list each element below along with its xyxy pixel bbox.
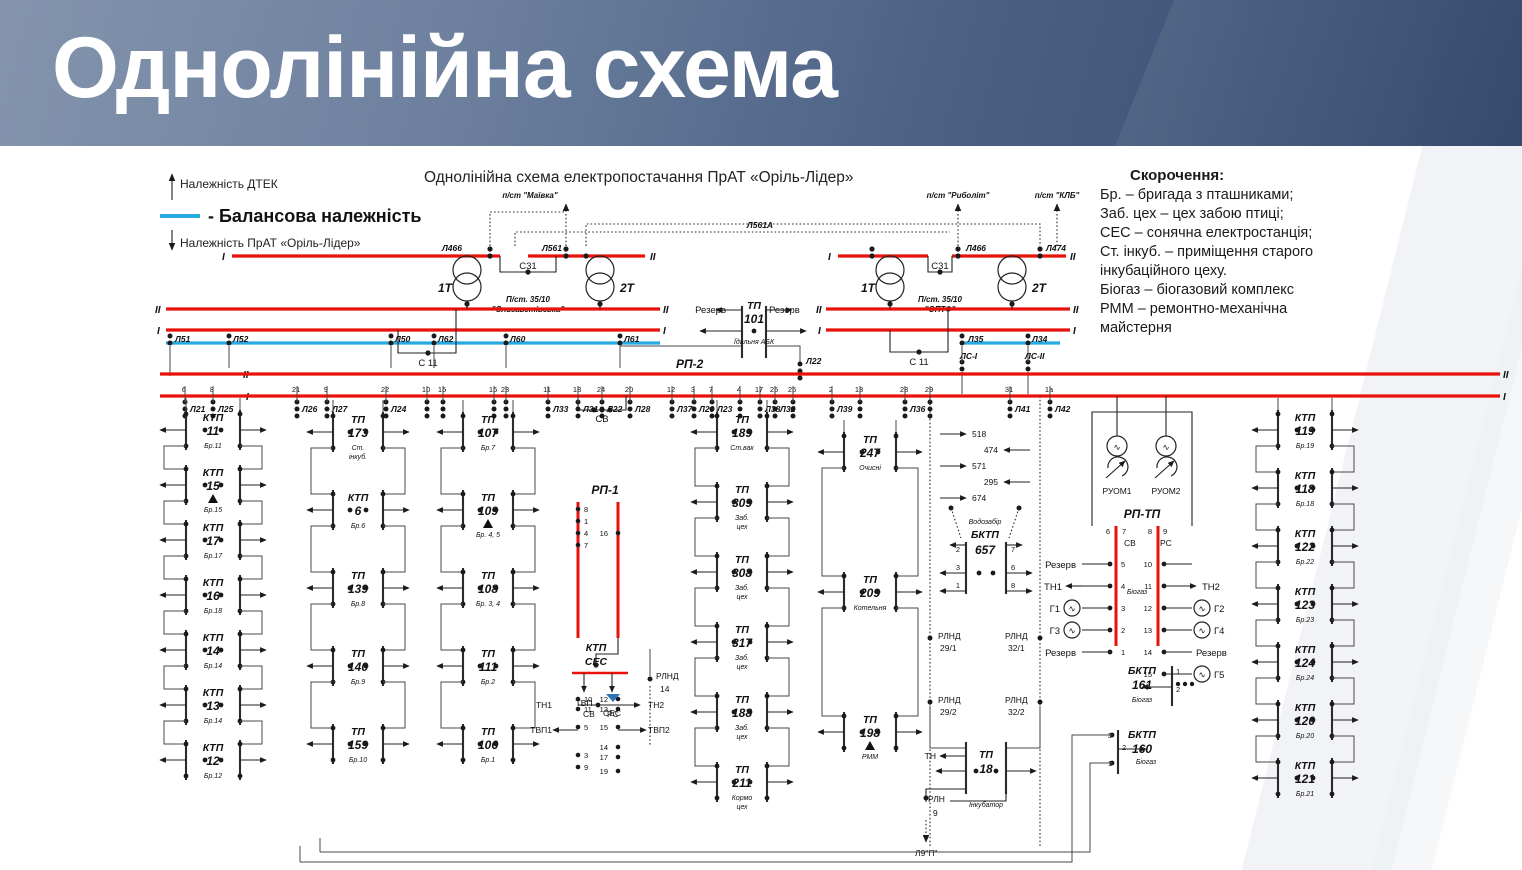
substation-unit[interactable]: КТП118Бр.18 [1252,468,1358,530]
rp2-feeder-cell[interactable]: 29 [925,385,933,419]
ktpces-out1: ТВП [576,698,593,708]
substation-unit[interactable]: КТП119Бр.19 [1252,410,1358,472]
ring-link-left [695,448,717,486]
rptp-right-cell[interactable]: 13 [1144,626,1152,635]
column-col-4: ТП189Ст.вакТП309Заб.цехТП308Заб.цехТП317… [691,400,793,811]
warning-triangle-icon [483,519,493,528]
unit-note: Заб. [735,514,749,522]
rp1-right-cell[interactable]: 15 [600,723,608,732]
node-dot [219,648,224,653]
rptp-right-rows: 1011ТН212∿Г213∿Г414Резерв15∿Г5 [1144,560,1227,682]
unit-note: Бр.1 [481,757,495,764]
column-col-2: ТП173Ст.інкуб.КТП6Бр.6ТП139Бр.8ТП140Бр.9… [307,400,409,764]
rp1-right-cell[interactable]: 14 [600,743,608,752]
sub2-t1-label: 1Т [861,281,877,295]
ring-link-left [695,518,717,556]
rp2-cell-number: 15 [438,385,446,394]
ring-link-right [513,526,535,572]
rp2-line-label: Л28 [634,404,651,414]
ring-link-right [1332,446,1354,472]
abbr-line-4: інкубаційного цеху. [1100,263,1227,279]
ring-link-left [164,501,186,524]
node-dot [511,492,516,497]
node-dot [1330,412,1335,417]
substation-unit[interactable]: ТП108Бр. 3, 4 [437,568,539,650]
substation-unit[interactable]: КТП16Бр.18 [160,575,266,634]
rp1-left-cell[interactable]: 1 [584,517,588,526]
ring-link-left [311,682,333,728]
substation-unit[interactable]: КТП13Бр.14 [160,685,266,744]
node-dot [1276,412,1281,417]
ring-link-left [822,608,844,716]
warning-triangle-icon [865,741,875,750]
node-dot [184,742,189,747]
node-dot [1330,792,1335,797]
column-col-6: КТП119Бр.19КТП118Бр.18КТП122Бр.22КТП123Б… [1252,398,1358,798]
unit-type: КТП [203,687,224,699]
bus-left-mark-I-r: I [663,326,666,337]
ring-link-right [767,518,789,556]
node-dot [381,414,386,419]
substation-unit[interactable]: ТП109Бр. 4, 5 [437,490,539,572]
unit-number: 15 [206,479,220,493]
tp18-number: 18 [979,762,993,776]
rp1-left-cell[interactable]: 9 [584,763,588,772]
unit-type: КТП [1295,412,1316,424]
node-dot [478,664,483,669]
warning-triangle-icon [208,494,218,503]
disconnector-dot [425,407,430,412]
ring-link-left [311,526,333,572]
sub1-feeder-l561: Л561 [541,243,562,253]
node-dot [238,687,243,692]
rp2-feeder-cell[interactable]: 13 [855,385,863,419]
node-dot [1276,470,1281,475]
bktp657-out-518: 518 [972,429,986,439]
ring-link-right [513,682,535,728]
bktp657-cell-7: 7 [1011,545,1015,554]
rp2-cell-number: 29 [925,385,933,394]
unit-note: Бр.14 [204,718,222,725]
rp-tp: ∿ ∿ РУОМ1 РУОМ2 РП-ТП 6 7 8 9 СВ РС Біог… [1044,396,1227,682]
rp1-right-cell[interactable]: 16 [600,529,608,538]
node-dot [1311,428,1316,433]
substation-unit[interactable]: КТП11Бр.11 [160,410,266,469]
rp1-left-cell[interactable]: 4 [584,529,588,538]
node-dot [616,725,621,730]
disconnector-dot [492,407,497,412]
rp2-feeder-cell[interactable]: 23 [501,385,509,419]
disconnector-dot [830,407,835,412]
unit-note: Бр.21 [1296,791,1314,798]
bktp657-rlnd-29-2-no: 29/2 [940,707,957,717]
substation-unit[interactable]: КТП121Бр.21 [1252,758,1358,798]
node-dot [715,796,720,801]
node-dot [331,726,336,731]
ruom2-glyph: ∿ [1162,442,1169,452]
rp1-left-cells: 81471011539 [576,505,593,772]
bktp657-cell-3: 3 [956,563,960,572]
node-dot [576,753,581,758]
rptp-left-label: Резерв [1045,648,1076,659]
bktp160-cell-2: 2 [1122,743,1126,752]
unit-type: ТП [735,764,749,776]
substation-unit[interactable]: КТП122Бр.22 [1252,526,1358,588]
rp2-cell-number: 20 [625,385,633,394]
ring-link-right [767,588,789,626]
node-dot [876,590,881,595]
node-dot [748,570,753,575]
ring-link-right [240,501,262,524]
node-dot [876,730,881,735]
substation-unit[interactable]: КТП12Бр.12 [160,740,266,780]
substation-unit[interactable]: ТП173Ст.інкуб. [307,412,409,494]
bktp657-name: БКТП [971,529,999,541]
unit-type: ТП [863,574,877,586]
rptp-left-label: Г1 [1050,604,1060,615]
substation-unit[interactable]: КТП6Бр.6 [307,490,409,572]
node-dot [1330,528,1335,533]
ring-link-left [441,604,463,650]
bus-right-mark-I: I [818,326,821,337]
ring-link-right [1332,620,1354,646]
unit-note: Бр.24 [1296,675,1314,682]
ring-link-right [1332,736,1354,762]
unit-note-2: цех [736,734,748,741]
rp2-line-label: Л37 [676,404,694,414]
bktp161-type: БКТП [1128,665,1156,677]
disconnector-dot [504,414,509,419]
bktp657-cell-1: 1 [956,581,960,590]
disconnector-dot [758,407,763,412]
substation-unit[interactable]: ТП189Ст.вак [691,412,793,486]
node-dot [1276,644,1281,649]
unit-note: Бр.22 [1296,559,1314,566]
node-dot [238,774,243,779]
line-l52: Л52 [232,334,249,344]
node-dot [203,593,208,598]
rptp-left-cell[interactable]: 4 [1121,582,1125,591]
node-dot [842,746,847,751]
node-dot [219,703,224,708]
node-dot [511,648,516,653]
rptp-left-cell[interactable]: 1 [1121,648,1125,657]
node-dot [748,430,753,435]
bktp657-out-674: 674 [972,493,986,503]
substation-unit[interactable]: ТП139Бр.8 [307,568,409,650]
line-l61: Л61 [623,334,640,344]
ring-link-right [1332,678,1354,704]
unit-note: Бр.18 [1296,501,1314,508]
rptp-left-cell[interactable]: 2 [1121,626,1125,635]
tp101-note: Їдальня АБК [734,338,775,346]
disconnector-dot [710,414,715,419]
node-dot [381,648,386,653]
rp2-cell-number: 16 [489,385,497,394]
substation-unit[interactable]: КТП17Бр.17 [160,520,266,579]
rptp-left-cell[interactable]: 5 [1121,560,1125,569]
ring-link-right [240,721,262,744]
rptp-left-cell[interactable]: 3 [1121,604,1125,613]
node-dot [732,500,737,505]
ring-link-left [164,721,186,744]
ring-link-left [1256,620,1278,646]
substation-unit[interactable]: ТП211Кормоцех [691,762,793,811]
node-dot [1330,470,1335,475]
node-dot [616,755,621,760]
rp2-cell-number: 25 [770,385,778,394]
disconnector-dot [576,407,581,412]
node-dot [184,774,189,779]
external-feeders: п/ст "Маївка" п/ст "Риболіт" п/ст "КЛБ" … [490,191,1079,246]
tp18-rln: РЛН [928,794,945,804]
node-dot [1295,486,1300,491]
disconnector-dot [1048,407,1053,412]
ring-link-right [896,468,918,576]
unit-type: ТП [735,624,749,636]
unit-number: 12 [206,754,220,768]
rp2-feeder-cell[interactable]: 10 [422,385,430,419]
unit-note-2: цех [736,664,748,671]
rptp-left-rows: 5Резерв4ТН13∿Г12∿Г31Резерв [1044,560,1125,659]
rp2-feeder-cell[interactable]: 22Л24 [381,385,407,419]
rp1-tvp1: ТВП1 [530,725,552,735]
disconnector-dot [773,407,778,412]
ring-link-left [164,556,186,579]
rp1-left-cell[interactable]: 8 [584,505,588,514]
rp2-line-label: Л22 [606,404,623,414]
substation-unit[interactable]: ТП140Бр.9 [307,646,409,728]
unit-type: ТП [863,434,877,446]
disconnector-dot [425,414,430,419]
substation-unit[interactable]: ТП198РММ [818,712,922,761]
node-dot [203,703,208,708]
rp2-line-label: Л36 [909,404,926,414]
bktp161-cell-2: 2 [1176,685,1180,694]
column-col-1: КТП11Бр.11КТП15Бр.15КТП17Бр.17КТП16Бр.18… [160,398,266,780]
node-dot [461,758,466,763]
rp2-feeder-cell[interactable]: 28Л36 [900,385,926,419]
sub2-feeder-l474: Л474 [1045,243,1066,253]
node-dot [331,758,336,763]
node-dot [1311,486,1316,491]
unit-type: ТП [481,648,495,660]
unit-note: Бр.7 [481,445,496,452]
substation-unit[interactable]: ТП247Очисні [818,432,922,576]
rp2-feeder-cell[interactable]: 18Л31 [573,385,599,419]
tp101-type: ТП [747,300,761,312]
node-dot [461,726,466,731]
abbr-line-3: Ст. інкуб. – приміщення старого [1100,244,1313,260]
ring-link-right [767,448,789,486]
node-dot [184,577,189,582]
rp2-feeder-cell[interactable]: 21Л26 [292,385,318,419]
column-col-3: ТП107Бр.7ТП109Бр. 4, 5ТП108Бр. 3, 4ТП111… [437,400,539,764]
rp2-feeder-cell[interactable]: 2Л39 [829,385,853,419]
node-dot [1276,702,1281,707]
substation-unit[interactable]: КТП15Бр.15 [160,465,266,524]
node-dot [461,414,466,419]
unit-type: ТП [351,648,365,660]
node-dot [184,522,189,527]
node-dot [842,574,847,579]
ring-link-left [1256,562,1278,588]
node-dot [331,648,336,653]
substation-unit[interactable]: ТП107Бр.7 [437,412,539,494]
node-dot [238,742,243,747]
line-l62: Л62 [437,334,454,344]
node-dot [494,664,499,669]
unit-note: Бр.23 [1296,617,1314,624]
rp2-feeder-cell[interactable]: 15 [438,385,446,419]
rp2-feeder-cell[interactable]: 20Л28 [625,385,651,419]
node-dot [381,492,386,497]
node-dot [715,484,720,489]
substation-unit[interactable]: ТП106Бр.1 [437,724,539,764]
abbr-heading: Скорочення: [1130,167,1224,184]
rptp-top-cell-9: 9 [1163,527,1167,536]
node-dot [461,492,466,497]
node-dot [1276,586,1281,591]
tp18-type: ТП [979,749,993,761]
abbr-line-5: Біогаз – біогазовий комплекс [1100,282,1294,298]
node-dot [381,758,386,763]
node-dot [732,780,737,785]
node-dot [1330,644,1335,649]
unit-note: Кормо [732,795,753,802]
node-dot [381,726,386,731]
node-dot [184,632,189,637]
bus-left-c11: С 11 [418,358,437,369]
ring-link-right [767,658,789,696]
rp1-right-cell[interactable]: 17 [600,753,608,762]
substation-unit[interactable]: КТП14Бр.14 [160,630,266,689]
node-dot [1276,792,1281,797]
substation-unit[interactable]: ТП188Заб.цех [691,692,793,766]
ring-link-right [513,604,535,650]
rp1-left-cell[interactable]: 5 [584,723,588,732]
legend-bottom-label: Належність ПрАТ «Оріль-Лідер» [180,236,361,250]
node-dot [576,543,581,548]
node-dot [765,414,770,419]
substation-unit[interactable]: ТП159Бр.10 [307,724,409,764]
ring-link-right [383,604,405,650]
rp2-feeder-cell[interactable]: 1аЛ42 [1045,385,1071,419]
rp1-sv: СВ [583,709,595,719]
node-dot [381,570,386,575]
disconnector-dot [628,407,633,412]
substation-unit[interactable]: ТП309Заб.цех [691,482,793,556]
rptp-right-cell[interactable]: 10 [1144,560,1152,569]
unit-note: Бр. 4, 5 [476,532,500,539]
disconnector-dot [441,407,446,412]
unit-note-2: цех [736,804,748,811]
rp2-cell-number: 18 [573,385,581,394]
bktp657-cell-8: 8 [1011,581,1015,590]
substation-unit[interactable]: ТП209Котельня [818,572,922,716]
node-dot [576,531,581,536]
node-dot [511,726,516,731]
unit-type: КТП [1295,760,1316,772]
substation-unit[interactable]: ТП111Бр.2 [437,646,539,728]
substation-unit[interactable]: КТП120Бр.20 [1252,700,1358,762]
rp2-feeder-cell[interactable]: 12Л37 [667,385,694,419]
unit-note-2: цех [736,594,748,601]
node-dot [238,412,243,417]
rp2-feeder-cell[interactable]: 31Л41 [1005,385,1031,419]
substation-unit[interactable]: КТП124Бр.24 [1252,642,1358,704]
rp1-left-cell[interactable]: 7 [584,541,588,550]
node-dot [1311,602,1316,607]
rptp-right-cell[interactable]: 14 [1144,648,1152,657]
unit-type: ТП [481,726,495,738]
substation-unit[interactable]: ТП308Заб.цех [691,552,793,626]
rptp-right-cell[interactable]: 11 [1144,582,1152,591]
line-l35: Л35 [967,334,984,344]
node-dot [1330,586,1335,591]
generator-glyph: ∿ [1198,604,1205,614]
ring-link-left [1256,504,1278,530]
node-dot [1311,544,1316,549]
rp1-right-cell[interactable]: 12 [600,695,608,704]
node-dot [1295,428,1300,433]
unit-note-2: інкуб. [349,453,367,461]
rp2-cell-number: 21 [292,385,300,394]
node-dot [219,538,224,543]
node-dot [219,483,224,488]
node-dot [494,430,499,435]
rptp-right-cell[interactable]: 12 [1144,604,1152,613]
node-dot [494,586,499,591]
node-dot [748,640,753,645]
unit-type: КТП [1295,470,1316,482]
substation-unit[interactable]: КТП123Бр.23 [1252,584,1358,646]
substation-unit[interactable]: ТП317Заб.цех [691,622,793,696]
rp2-feeder-cell[interactable]: 11Л33 [543,385,568,419]
rp1-right-cell[interactable]: 19 [600,767,608,776]
generator-glyph: ∿ [1198,626,1205,636]
rp2-cell-number: 17 [755,385,763,394]
unit-type: КТП [203,412,224,424]
unit-type: ТП [863,714,877,726]
unit-type: ТП [481,492,495,504]
ruom1-glyph: ∿ [1113,442,1120,452]
bktp657-out-474: 474 [984,445,998,455]
rp2-feeder-cell[interactable]: 9Л27 [324,385,349,419]
rp1-left-cell[interactable]: 3 [584,751,588,760]
node-dot [576,725,581,730]
ring-link-right [383,682,405,728]
unit-number: 6 [355,504,362,518]
disconnector-dot [738,407,743,412]
node-dot [576,507,581,512]
node-dot [842,434,847,439]
bktp657-number: 657 [975,543,996,557]
legend-balance-label: - Балансова належність [208,206,422,226]
node-dot [732,430,737,435]
unit-type: ТП [735,694,749,706]
unit-note: Бр. 3, 4 [476,601,500,608]
rp2-mark-II-r: II [1503,370,1509,381]
node-dot [1276,760,1281,765]
node-dot [765,554,770,559]
unit-note: Бр.12 [204,773,222,780]
tp18-out: Л9"П" [915,848,937,858]
unit-number: 17 [206,534,221,548]
node-dot [715,764,720,769]
node-dot [748,780,753,785]
unit-type: КТП [1295,528,1316,540]
